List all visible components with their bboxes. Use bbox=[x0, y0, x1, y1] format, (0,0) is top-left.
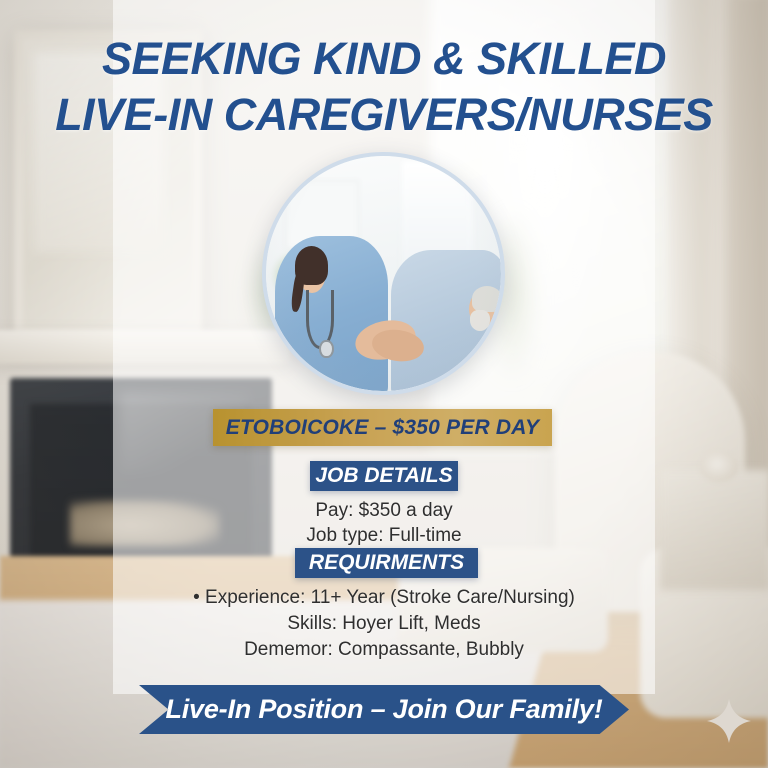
requirements-heading-label: REQUIRMENTS bbox=[309, 551, 464, 575]
job-details-heading-label: JOB DETAILS bbox=[315, 464, 452, 488]
location-pay-banner: ETOBOICOKE – $350 PER DAY bbox=[213, 409, 552, 446]
location-pay-banner-label: ETOBOICOKE – $350 PER DAY bbox=[226, 416, 540, 440]
job-detail-pay: Pay: $350 a day bbox=[0, 499, 768, 523]
sparkle-icon bbox=[705, 697, 753, 745]
caregiver-photo-image bbox=[266, 156, 501, 391]
photo-shading bbox=[266, 156, 501, 391]
requirements-heading-badge: REQUIRMENTS bbox=[295, 548, 478, 578]
job-advert-poster: SEEKING KIND & SKILLED LIVE-IN CAREGIVER… bbox=[0, 0, 768, 768]
headline-line-2: LIVE-IN CAREGIVERS/NURSES bbox=[0, 92, 768, 137]
call-to-action-ribbon: Live-In Position – Join Our Family! bbox=[139, 685, 629, 734]
job-detail-job-type: Job type: Full-time bbox=[0, 524, 768, 548]
job-details-heading-badge: JOB DETAILS bbox=[310, 461, 458, 491]
requirement-experience: • Experience: 11+ Year (Stroke Care/Nurs… bbox=[0, 586, 768, 610]
page-title: SEEKING KIND & SKILLED LIVE-IN CAREGIVER… bbox=[0, 36, 768, 137]
requirement-skills: Skills: Hoyer Lift, Meds bbox=[0, 612, 768, 636]
caregiver-photo bbox=[262, 152, 505, 395]
requirement-demeanor: Dememor: Compassante, Bubbly bbox=[0, 638, 768, 662]
headline-line-1: SEEKING KIND & SKILLED bbox=[0, 36, 768, 81]
call-to-action-label: Live-In Position – Join Our Family! bbox=[165, 694, 602, 725]
